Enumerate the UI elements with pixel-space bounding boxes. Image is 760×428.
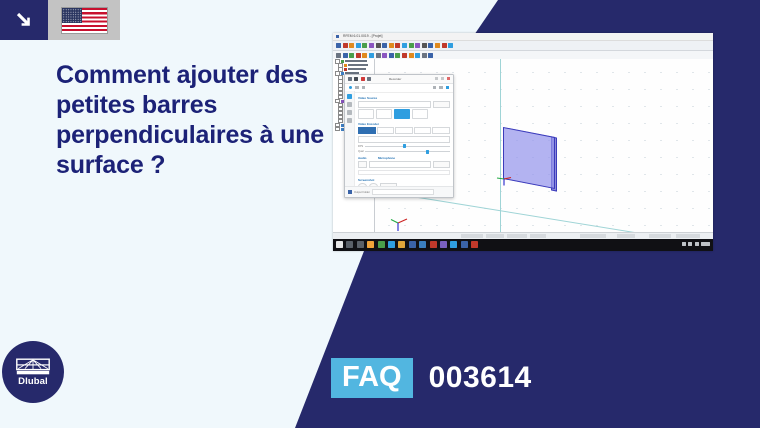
audio-header-row: Audio Microphone [358,156,450,160]
embedded-app-screenshot[interactable]: RFEM 6.01.0019 - [Projet] [333,33,713,251]
explorer-icon[interactable] [367,241,374,248]
audio-label: Audio [358,156,376,160]
language-flag-button[interactable] [48,0,120,40]
rfem-icon[interactable] [450,241,457,248]
quality-row: Qual [358,150,450,154]
truss-bridge-icon [16,358,50,376]
word-icon[interactable] [419,241,426,248]
task-view-icon[interactable] [357,241,364,248]
recorder-sub-left-icons[interactable] [349,86,365,89]
pause-icon[interactable] [367,77,371,81]
origin-axis-triad-icon [496,172,512,186]
codec-row [358,136,450,143]
microphone-row [358,161,450,168]
output-folder-path-field[interactable] [372,189,434,195]
output-folder-label: Output Folder [354,191,370,194]
us-flag-icon [61,7,108,34]
capture-mode-tiles[interactable] [358,109,450,119]
recorder-side-rail[interactable] [345,91,355,187]
app-extra-icon[interactable] [461,241,468,248]
record-dot-icon[interactable] [361,77,365,81]
recorder-title-text: Recorder [389,77,401,81]
folder-icon [348,190,352,194]
recorder-main-panel: Video Source Video Encoder [355,91,453,187]
video-source-row [358,101,450,108]
tray-battery-icon[interactable] [695,242,699,246]
search-icon[interactable] [346,241,353,248]
camera-icon[interactable] [439,86,442,89]
capture-mode-device[interactable] [412,109,428,119]
rail-help-icon[interactable] [347,118,352,123]
app-status-bar [333,232,713,239]
page-title: Comment ajouter des petites barres perpe… [56,60,331,180]
tray-clock[interactable] [701,242,710,246]
video-encoder-label: Video Encoder [358,122,450,126]
fps-slider[interactable] [365,144,450,148]
edge-icon[interactable] [388,241,395,248]
microphone-toggle-icon[interactable] [358,161,367,168]
minimize-icon[interactable] [435,77,438,80]
capture-mode-region[interactable] [394,109,410,119]
dlubal-wordmark: Dlubal [18,377,48,387]
encoder-tab-stream[interactable] [414,127,432,134]
rail-video-icon[interactable] [347,94,352,99]
outlook-icon[interactable] [409,241,416,248]
recorder-sub-right-icons[interactable] [433,86,449,89]
encoder-tab-mode[interactable] [358,127,376,134]
microphone-label: Microphone [378,156,450,160]
recorder-taskbar-icon[interactable] [471,241,478,248]
encoder-segment-tabs[interactable] [358,127,450,134]
pencil-icon[interactable] [433,86,436,89]
capture-mode-fullscreen[interactable] [358,109,374,119]
quality-label: Qual [358,150,363,153]
plus-icon[interactable] [355,86,358,89]
teams-icon[interactable] [440,241,447,248]
fps-row: FPS [358,144,450,148]
encoder-tab-record[interactable] [432,127,450,134]
rail-audio-icon[interactable] [347,102,352,107]
recorder-title-bar[interactable]: Recorder [345,75,453,84]
view-axis-triad-icon [390,214,408,232]
quality-slider[interactable] [365,150,450,154]
recorder-footer: Output Folder [345,186,453,197]
screen-recorder-dialog[interactable]: Recorder [344,74,454,198]
arrow-down-right-icon [13,9,35,31]
taskbar-system-tray[interactable] [682,242,711,246]
encoder-tab-original[interactable] [395,127,413,134]
app-body: ⌖ [333,59,713,239]
encoder-tab-h264[interactable] [377,127,395,134]
window-buttons[interactable] [435,77,450,80]
microphone-select[interactable] [369,161,431,168]
output-folder-row[interactable]: Output Folder [348,189,434,195]
microphone-separate-file-row [358,170,450,176]
toolbar-icons-2 [336,53,433,58]
close-icon[interactable] [447,77,450,80]
chrome-icon[interactable] [378,241,385,248]
tray-network-icon[interactable] [682,242,686,246]
settings-gear-icon[interactable] [348,77,352,81]
slide-canvas: Comment ajouter des petites barres perpe… [0,0,760,428]
app-title-text: RFEM 6.01.0019 - [Projet] [343,34,382,38]
faq-footer: FAQ 003614 [331,358,532,398]
codec-select[interactable] [358,136,450,143]
stop-square-icon[interactable] [354,77,358,81]
screenshot-label: Screenshot [358,178,450,182]
app-title-bar: RFEM 6.01.0019 - [Projet] [333,33,713,41]
microphone-separate-file-checkbox[interactable] [358,170,450,176]
recorder-transport-controls[interactable] [348,77,371,81]
tray-volume-icon[interactable] [688,242,692,246]
taskbar-app-icons[interactable] [336,241,478,248]
maximize-icon[interactable] [441,77,444,80]
axis-line-vertical [500,59,501,239]
app-toolbar-row-1[interactable] [333,41,713,51]
capture-mode-window[interactable] [376,109,392,119]
app-icon [336,35,339,38]
video-source-label: Video Source [358,96,450,100]
arrow-down-right-button[interactable] [0,0,48,40]
windows-taskbar[interactable] [333,239,713,251]
info-icon[interactable] [446,86,449,89]
microphone-preview-button[interactable] [433,161,450,168]
faq-tag: FAQ [331,358,413,398]
dlubal-logo[interactable]: Dlubal [2,341,64,403]
faq-number: 003614 [429,363,532,393]
target-icon[interactable] [349,86,352,89]
fps-label: FPS [358,145,363,148]
video-source-field[interactable] [358,101,431,108]
top-left-badge-group [0,0,120,40]
folder-icon[interactable] [398,241,405,248]
pdf-icon[interactable] [430,241,437,248]
rail-settings-icon[interactable] [347,110,352,115]
video-source-preview-button[interactable] [433,101,450,108]
toolbar-icons-1 [336,43,453,48]
list-icon[interactable] [362,86,365,89]
start-icon[interactable] [336,241,343,248]
